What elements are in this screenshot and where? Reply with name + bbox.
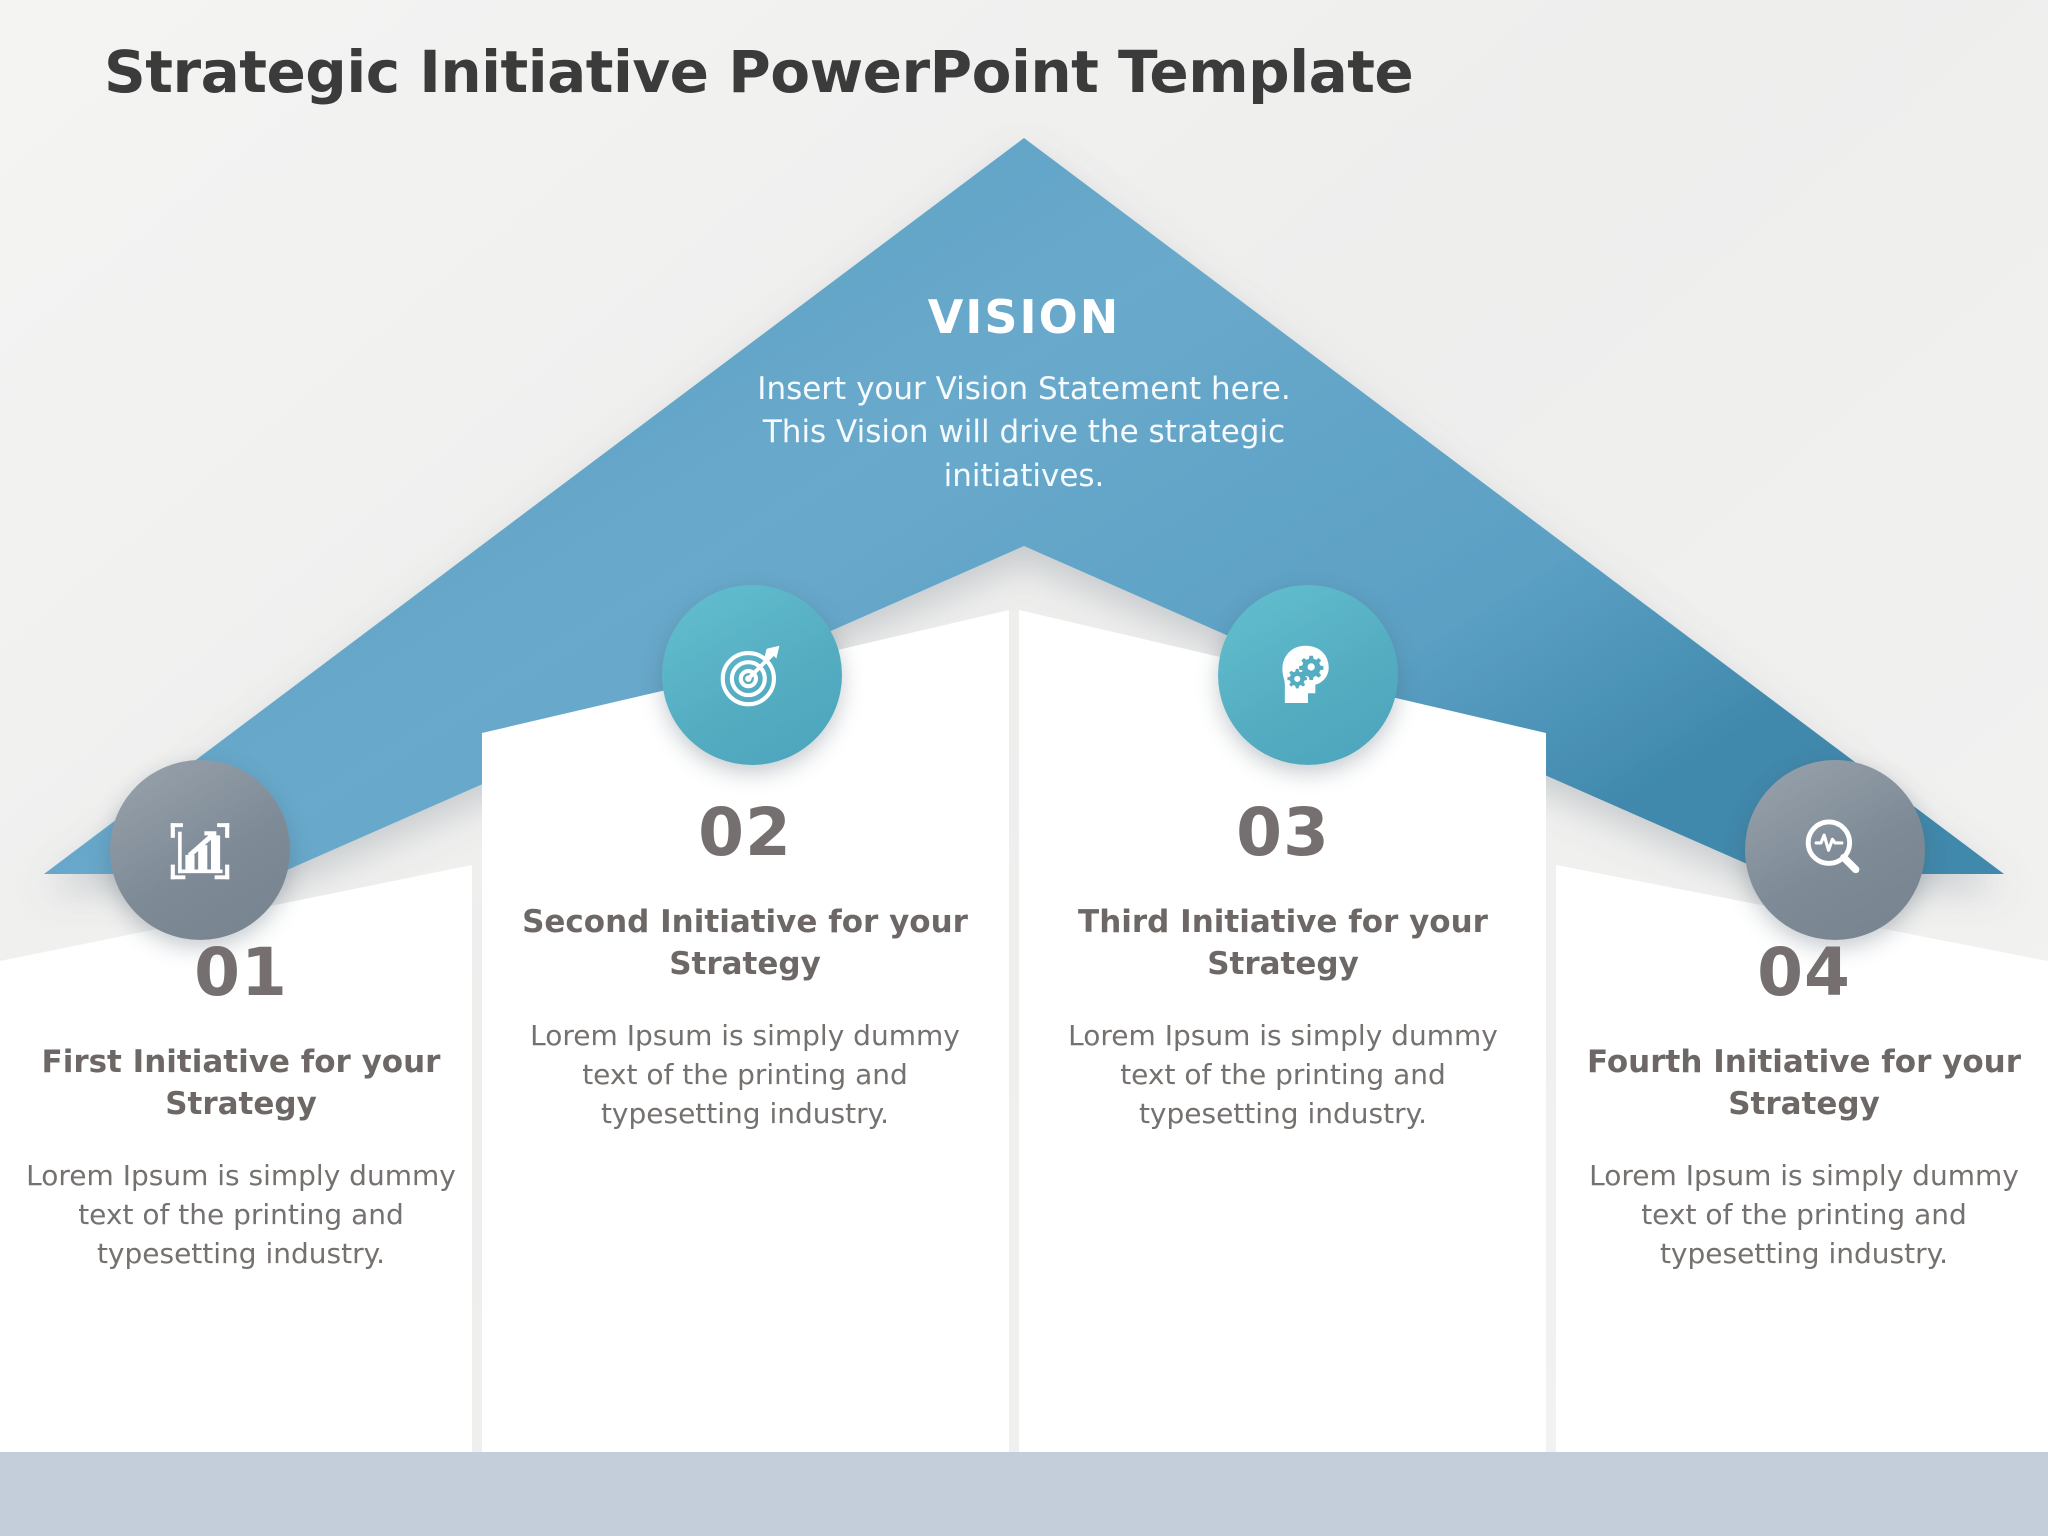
initiative-body-01: Lorem Ipsum is simply dummy text of the … xyxy=(22,1156,460,1274)
initiative-text-01: 01 First Initiative for your Strategy Lo… xyxy=(22,940,460,1273)
initiative-number-01: 01 xyxy=(22,940,460,1006)
initiative-body-02: Lorem Ipsum is simply dummy text of the … xyxy=(500,1016,990,1134)
initiative-heading-02: Second Initiative for your Strategy xyxy=(500,902,990,986)
page-title: Strategic Initiative PowerPoint Template xyxy=(104,38,1413,106)
initiative-text-02: 02 Second Initiative for your Strategy L… xyxy=(500,800,990,1133)
slide-canvas: Strategic Initiative PowerPoint Template… xyxy=(0,0,2048,1536)
bar-chart-growth-icon xyxy=(161,811,239,889)
initiative-number-03: 03 xyxy=(1038,800,1528,866)
vision-title: VISION xyxy=(724,290,1324,344)
initiative-text-03: 03 Third Initiative for your Strategy Lo… xyxy=(1038,800,1528,1133)
head-gears-icon xyxy=(1269,636,1347,714)
initiative-icon-circle-02[interactable] xyxy=(662,585,842,765)
initiative-heading-04: Fourth Initiative for your Strategy xyxy=(1578,1042,2030,1126)
initiative-body-03: Lorem Ipsum is simply dummy text of the … xyxy=(1038,1016,1528,1134)
initiative-icon-circle-04[interactable] xyxy=(1745,760,1925,940)
initiative-number-02: 02 xyxy=(500,800,990,866)
initiative-text-04: 04 Fourth Initiative for your Strategy L… xyxy=(1578,940,2030,1273)
bottom-bar xyxy=(0,1452,2048,1536)
initiative-body-04: Lorem Ipsum is simply dummy text of the … xyxy=(1578,1156,2030,1274)
vision-body: Insert your Vision Statement here. This … xyxy=(724,368,1324,498)
initiative-heading-01: First Initiative for your Strategy xyxy=(22,1042,460,1126)
initiative-icon-circle-01[interactable] xyxy=(110,760,290,940)
vision-block: VISION Insert your Vision Statement here… xyxy=(724,290,1324,498)
initiative-heading-03: Third Initiative for your Strategy xyxy=(1038,902,1528,986)
target-arrow-icon xyxy=(713,636,791,714)
initiative-number-04: 04 xyxy=(1578,940,2030,1006)
magnifier-pulse-icon xyxy=(1796,811,1874,889)
initiative-icon-circle-03[interactable] xyxy=(1218,585,1398,765)
